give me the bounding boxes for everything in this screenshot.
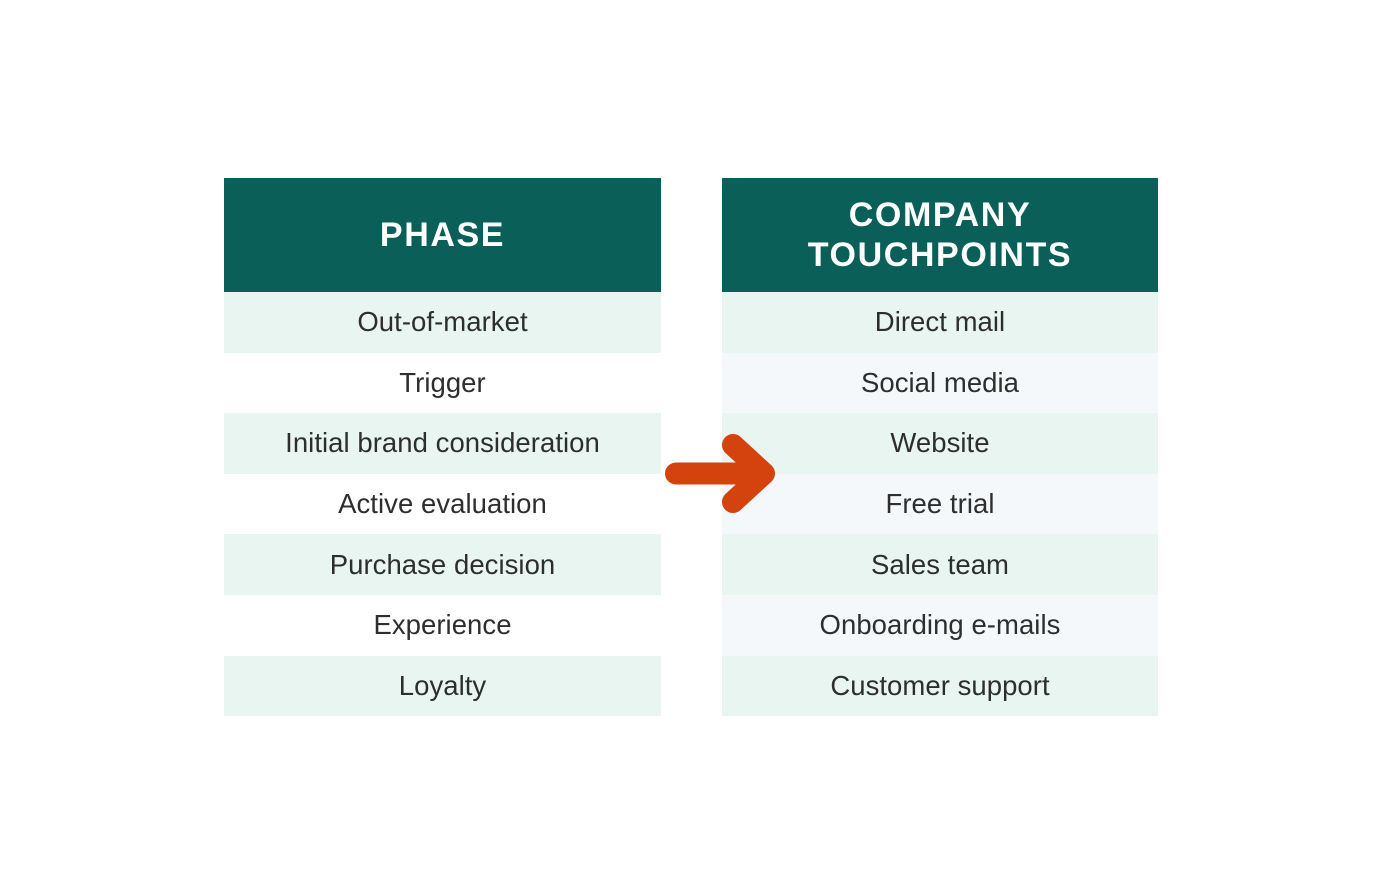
phase-table: PHASE Out-of-market Trigger Initial bran…: [224, 178, 661, 716]
touchpoints-header-line-1: COMPANY: [808, 195, 1072, 235]
list-item: Active evaluation: [224, 474, 661, 535]
journey-touchpoints-diagram: PHASE Out-of-market Trigger Initial bran…: [0, 0, 1381, 896]
list-item: Experience: [224, 595, 661, 656]
list-item: Sales team: [722, 534, 1158, 595]
phase-header-line-1: PHASE: [380, 215, 505, 255]
company-touchpoints-column-header: COMPANY TOUCHPOINTS: [722, 178, 1158, 292]
list-item: Free trial: [722, 474, 1158, 535]
touchpoints-row-list: Direct mail Social media Website Free tr…: [722, 292, 1158, 716]
list-item: Purchase decision: [224, 534, 661, 595]
list-item: Out-of-market: [224, 292, 661, 353]
list-item: Initial brand consideration: [224, 413, 661, 474]
list-item: Trigger: [224, 353, 661, 414]
list-item: Direct mail: [722, 292, 1158, 353]
list-item: Customer support: [722, 656, 1158, 717]
list-item: Onboarding e-mails: [722, 595, 1158, 656]
arrow-right-icon: [663, 428, 783, 520]
list-item: Website: [722, 413, 1158, 474]
touchpoints-header-line-2: TOUCHPOINTS: [808, 235, 1072, 275]
phase-column-header: PHASE: [224, 178, 661, 292]
list-item: Social media: [722, 353, 1158, 414]
phase-row-list: Out-of-market Trigger Initial brand cons…: [224, 292, 661, 716]
company-touchpoints-table: COMPANY TOUCHPOINTS Direct mail Social m…: [722, 178, 1158, 716]
list-item: Loyalty: [224, 656, 661, 717]
